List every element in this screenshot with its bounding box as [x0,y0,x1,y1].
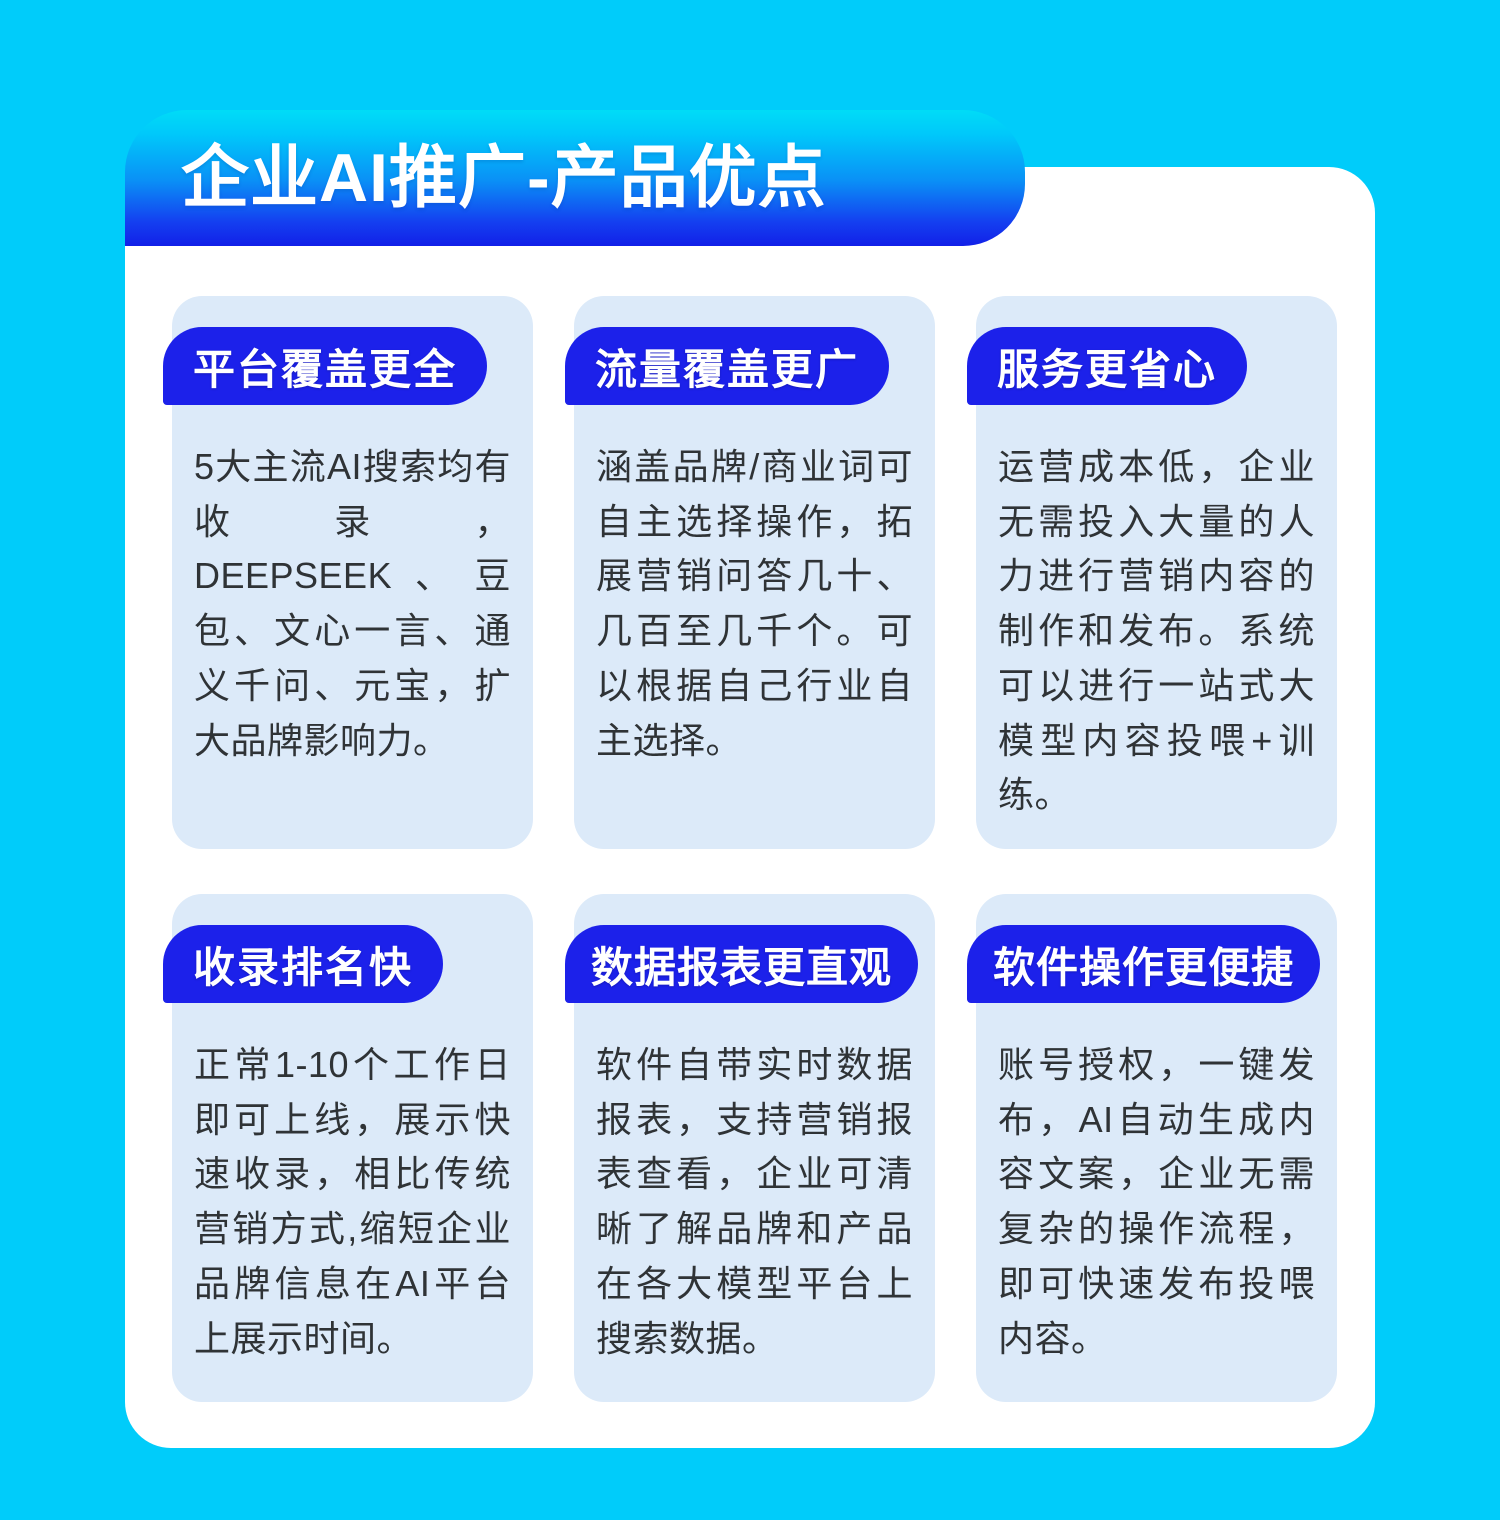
page-title: 企业AI推广-产品优点 [181,144,827,212]
card-heading-5: 数据报表更直观 [565,925,918,1003]
card-heading-1: 平台覆盖更全 [163,327,487,405]
feature-card-6: 软件操作更便捷 账号授权，一键发布，AI自动生成内容文案，企业无需复杂的操作流程… [976,894,1337,1402]
feature-card-grid: 平台覆盖更全 5大主流AI搜索均有收录，DEEPSEEK、豆包、文心一言、通义千… [172,296,1338,1402]
feature-card-2: 流量覆盖更广 涵盖品牌/商业词可自主选择操作，拓展营销问答几十、几百至几千个。可… [574,296,935,849]
feature-card-5: 数据报表更直观 软件自带实时数据报表，支持营销报表查看，企业可清晰了解品牌和产品… [574,894,935,1402]
feature-card-4: 收录排名快 正常1-10个工作日即可上线，展示快速收录，相比传统营销方式,缩短企… [172,894,533,1402]
card-body-4: 正常1-10个工作日即可上线，展示快速收录，相比传统营销方式,缩短企业品牌信息在… [194,1038,511,1366]
feature-card-3: 服务更省心 运营成本低，企业无需投入大量的人力进行营销内容的制作和发布。系统可以… [976,296,1337,849]
title-banner: 企业AI推广-产品优点 [125,110,1025,246]
card-body-1: 5大主流AI搜索均有收录，DEEPSEEK、豆包、文心一言、通义千问、元宝，扩大… [194,440,511,768]
card-body-3: 运营成本低，企业无需投入大量的人力进行营销内容的制作和发布。系统可以进行一站式大… [998,440,1315,823]
feature-card-1: 平台覆盖更全 5大主流AI搜索均有收录，DEEPSEEK、豆包、文心一言、通义千… [172,296,533,849]
card-body-6: 账号授权，一键发布，AI自动生成内容文案，企业无需复杂的操作流程，即可快速发布投… [998,1038,1315,1366]
card-heading-6: 软件操作更便捷 [967,925,1320,1003]
card-body-2: 涵盖品牌/商业词可自主选择操作，拓展营销问答几十、几百至几千个。可以根据自己行业… [596,440,913,768]
poster-root: 企业AI推广-产品优点 平台覆盖更全 5大主流AI搜索均有收录，DEEPSEEK… [0,0,1500,1520]
card-heading-3: 服务更省心 [967,327,1247,405]
card-heading-2: 流量覆盖更广 [565,327,889,405]
card-body-5: 软件自带实时数据报表，支持营销报表查看，企业可清晰了解品牌和产品在各大模型平台上… [596,1038,913,1366]
card-heading-4: 收录排名快 [163,925,443,1003]
